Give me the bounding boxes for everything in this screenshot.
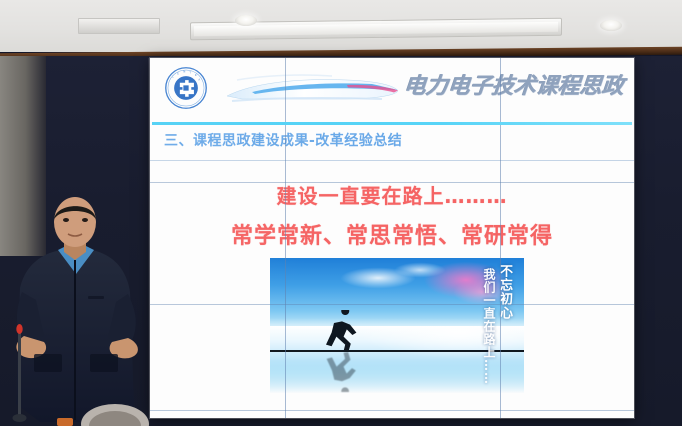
- downlight-icon: [235, 15, 257, 26]
- heading-underline: [150, 160, 634, 161]
- slide-header: CEN TRA 电力电子技术课程思政: [150, 58, 634, 122]
- photo-vertical-text-left: 我们一直在路上……: [481, 268, 498, 385]
- panel-seam-vertical: [500, 58, 501, 418]
- slide-photo: 不忘初心 我们一直在路上……: [270, 258, 524, 393]
- air-vent-icon: [78, 18, 160, 34]
- panel-seam-horizontal: [150, 304, 634, 305]
- screenshot-root: CEN TRA 电力电子技术课程思政: [0, 0, 682, 426]
- runner-silhouette-icon: [318, 310, 366, 352]
- panel-seam-horizontal: [150, 410, 634, 411]
- audience-member: [55, 400, 175, 426]
- high-speed-train-graphic: [222, 70, 402, 110]
- svg-text:N: N: [183, 70, 185, 74]
- header-divider: [152, 122, 632, 125]
- projection-screen[interactable]: CEN TRA 电力电子技术课程思政: [150, 58, 634, 418]
- university-seal-logo-icon: CEN TRA: [164, 66, 208, 110]
- gooseneck-microphone-icon: [12, 318, 28, 426]
- svg-text:C: C: [172, 74, 174, 78]
- runner-reflection-icon: [318, 352, 366, 392]
- slide-body-line-1: 建设一直要在路上………: [150, 180, 634, 209]
- svg-text:T: T: [190, 70, 192, 74]
- slide-title: 电力电子技术课程思政: [403, 68, 626, 100]
- slide-section-heading: 三、课程思政建设成果-改革经验总结: [164, 130, 402, 150]
- panel-seam-horizontal: [150, 182, 634, 183]
- slide-body-line-2: 常学常新、常思常悟、常研常得: [150, 218, 634, 250]
- svg-text:A: A: [198, 78, 200, 82]
- panel-seam-vertical: [285, 58, 286, 418]
- svg-text:E: E: [177, 71, 179, 75]
- svg-text:R: R: [195, 73, 197, 77]
- downlight-icon: [600, 20, 622, 31]
